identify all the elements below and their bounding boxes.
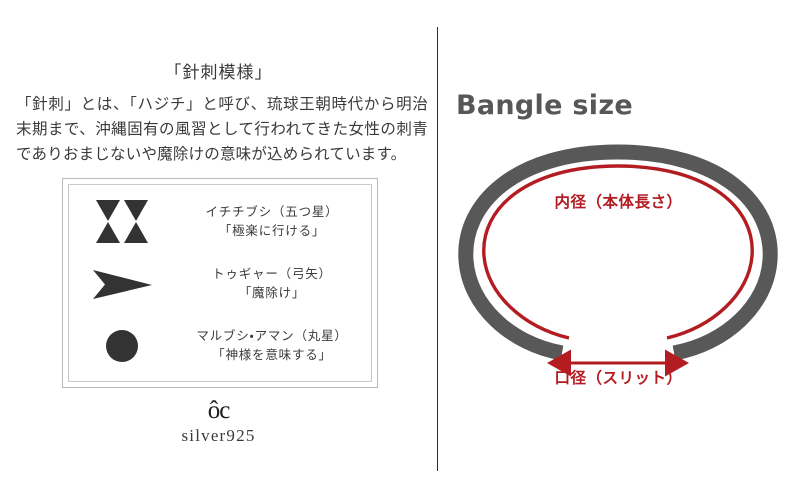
symbol-name: トゥギャー（弓矢）	[212, 267, 332, 281]
list-item: トゥギャー（弓矢） 「魔除け」	[63, 255, 377, 313]
symbol-caption: マルブシ・アマン（丸星） 「神様を意味する」	[181, 327, 377, 365]
list-item: マルブシ・アマン（丸星） 「神様を意味する」	[63, 317, 377, 375]
symbol-name: マルブシ・アマン（丸星）	[196, 329, 347, 343]
symbol-meaning: 「魔除け」	[181, 284, 363, 303]
arrowhead-icon	[63, 267, 181, 301]
brand-subtitle: silver925	[0, 425, 437, 447]
harizashi-title: 「針刺模様」	[0, 58, 437, 83]
symbol-name: イチチブシ（五つ星）	[205, 205, 338, 219]
brand-logo: ôc silver925	[0, 398, 437, 447]
harizashi-panel: 「針刺模様」 「針刺」とは、「ハジチ」と呼び、琉球王朝時代から明治末期まで、沖縄…	[0, 0, 437, 496]
slit-diameter-label: 口径（スリット）	[437, 366, 800, 388]
symbol-legend-rows: イチチブシ（五つ星） 「極楽に行ける」 トゥギャー（弓矢） 「魔除け」	[63, 179, 377, 387]
symbol-legend-box: イチチブシ（五つ星） 「極楽に行ける」 トゥギャー（弓矢） 「魔除け」	[62, 178, 378, 388]
brand-mark: ôc	[0, 398, 437, 424]
symbol-meaning: 「極楽に行ける」	[181, 222, 363, 241]
page-root: 「針刺模様」 「針刺」とは、「ハジチ」と呼び、琉球王朝時代から明治末期まで、沖縄…	[0, 0, 800, 496]
bangle-outer-ring	[466, 152, 770, 353]
inner-diameter-label: 内径（本体長さ）	[437, 190, 800, 212]
bangle-size-panel: Bangle size	[437, 0, 800, 496]
harizashi-description-text: 「針刺」とは、「ハジチ」と呼び、琉球王朝時代から明治末期まで、沖縄固有の風習とし…	[16, 92, 428, 167]
bangle-diagram	[453, 130, 783, 380]
symbol-meaning: 「神様を意味する」	[181, 346, 363, 365]
symbol-caption: イチチブシ（五つ星） 「極楽に行ける」	[181, 203, 377, 241]
double-hourglass-icon	[63, 199, 181, 245]
page-title: Bangle size	[456, 90, 633, 121]
list-item: イチチブシ（五つ星） 「極楽に行ける」	[63, 193, 377, 251]
symbol-caption: トゥギャー（弓矢） 「魔除け」	[181, 265, 377, 303]
harizashi-description: 「針刺」とは、「ハジチ」と呼び、琉球王朝時代から明治末期まで、沖縄固有の風習とし…	[16, 92, 428, 167]
filled-circle-icon	[63, 329, 181, 363]
